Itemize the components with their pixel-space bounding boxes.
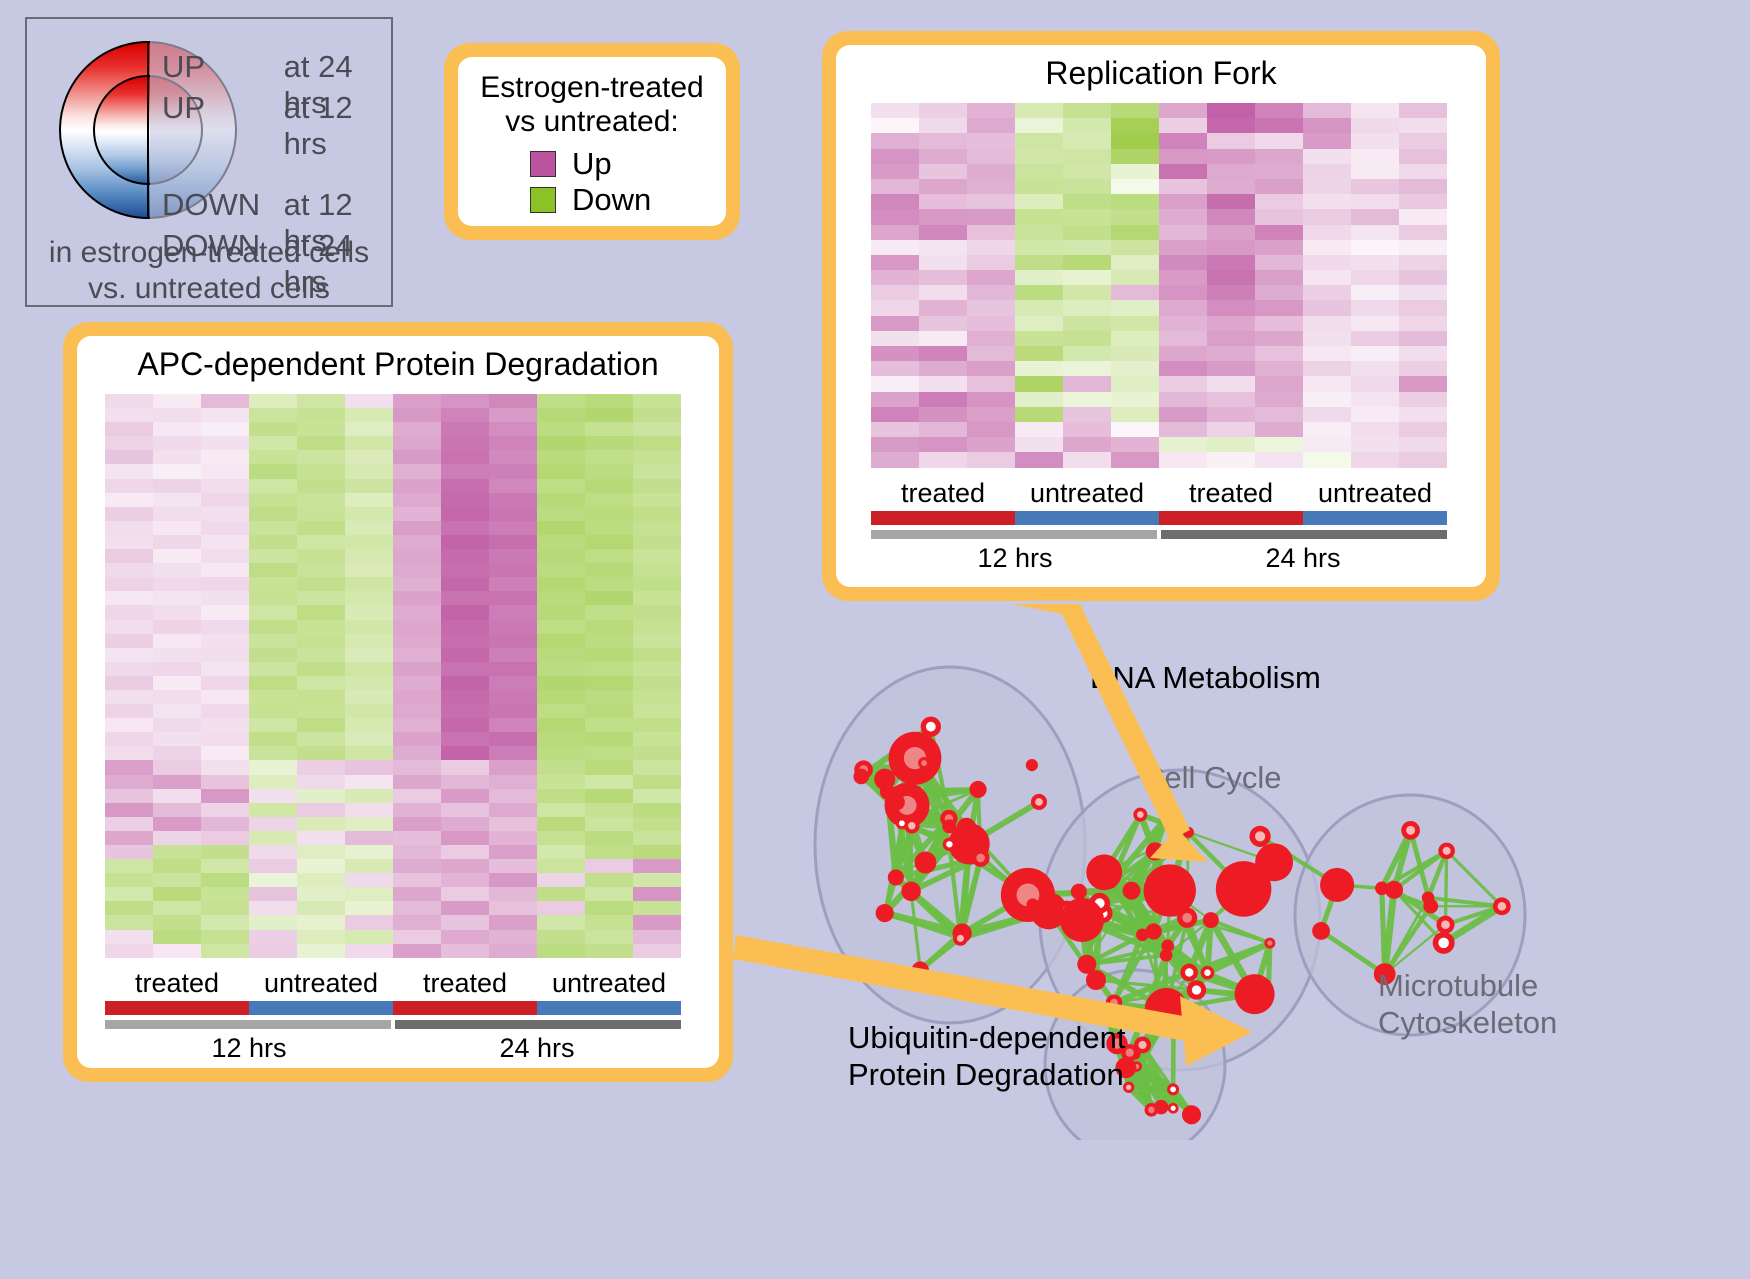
heatmap-cell [1399,149,1447,164]
heatmap-cell [393,789,441,803]
heatmap-cell [1207,255,1255,270]
heatmap-cell [585,873,633,887]
up-swatch-icon [530,151,556,177]
heatmap-cell [153,873,201,887]
heatmap-cell [585,831,633,845]
heatmap-cell [489,408,537,422]
heatmap-cell [441,493,489,507]
heatmap-cell [1303,118,1351,133]
heatmap-cell [919,209,967,224]
heatmap-cell [1159,164,1207,179]
heatmap-cell [297,436,345,450]
heatmap-cell [919,407,967,422]
time-color-bars [105,1020,681,1029]
panel-title: APC-dependent Protein Degradation [77,346,719,383]
heatmap-cell [249,450,297,464]
heatmap-cell [633,577,681,591]
heatmap-cell [585,507,633,521]
heatmap-cell [585,450,633,464]
heatmap-cell [489,422,537,436]
heatmap-cell [1255,346,1303,361]
heatmap-cell [537,662,585,676]
heatmap-cell [585,605,633,619]
node-outer-ring [1160,949,1173,962]
heatmap-cell [537,591,585,605]
heatmap-cell [633,450,681,464]
node-outer-ring [1123,882,1141,900]
heatmap-cell [297,634,345,648]
heatmap-cell [393,563,441,577]
heatmap-cell [537,690,585,704]
heatmap-cell [633,873,681,887]
heatmap-cell [1351,133,1399,148]
heatmap-cell [393,634,441,648]
heatmap-cell [1207,225,1255,240]
heatmap-cell [441,408,489,422]
heatmap-cell [153,817,201,831]
heatmap-cell [1303,179,1351,194]
heatmap-cell [201,620,249,634]
heatmap-cell [1351,361,1399,376]
heatmap-cell [441,479,489,493]
heatmap-cell [967,331,1015,346]
heatmap-cell [1303,133,1351,148]
heatmap-cell [585,422,633,436]
node-inner-dot [1443,847,1451,855]
node-inner-dot [1441,920,1450,929]
network-node [1031,794,1047,810]
heatmap-cell [1303,392,1351,407]
heatmap-cell [489,620,537,634]
heatmap-cell [105,436,153,450]
heatmap-cell [345,634,393,648]
heatmap-cell [249,930,297,944]
heatmap-cell [105,422,153,436]
heatmap-cell [249,789,297,803]
heatmap-cell [537,535,585,549]
heatmap-cell [153,704,201,718]
heatmap-cell [537,859,585,873]
heatmap-cell [297,549,345,563]
heatmap-cell [153,648,201,662]
heatmap-cell [489,450,537,464]
heatmap-cell [249,436,297,450]
heatmap-cell [249,521,297,535]
heatmap-cell [345,577,393,591]
network-edge [1445,851,1446,925]
cluster-label-microtubule: MicrotubuleCytoskeleton [1378,968,1557,1041]
heatmap-cell [441,549,489,563]
apc-degradation-axis: treated untreated treated untreated 12 h [105,968,681,1064]
heatmap-cell [201,662,249,676]
heatmap-cell [919,118,967,133]
heatmap-cell [105,718,153,732]
node-inner-dot [1406,826,1415,835]
heatmap-cell [489,817,537,831]
heatmap-cell [489,746,537,760]
wheel-caption-line1: in estrogen-treated cells [27,235,391,271]
heatmap-cell [1303,361,1351,376]
condition-bar-treated-24 [393,1001,537,1015]
heatmap-cell [633,718,681,732]
heatmap-cell [489,775,537,789]
heatmap-cell [1255,300,1303,315]
node-inner-dot [1170,1087,1176,1093]
heatmap-cell [967,255,1015,270]
heatmap-cell [153,549,201,563]
heatmap-cell [967,240,1015,255]
heatmap-cell [393,901,441,915]
heatmap-cell [871,452,919,467]
heatmap-cell [1351,118,1399,133]
heatmap-cell [1303,103,1351,118]
heatmap-cell [585,789,633,803]
heatmap-cell [585,915,633,929]
heatmap-cell [489,859,537,873]
heatmap-cell [633,507,681,521]
time-labels: 12 hrs 24 hrs [871,543,1447,574]
heatmap-cell [1111,361,1159,376]
heatmap-cell [871,225,919,240]
heatmap-cell [393,676,441,690]
heatmap-cell [201,408,249,422]
heatmap-cell [345,549,393,563]
heatmap-cell [393,760,441,774]
heatmap-cell [393,746,441,760]
heatmap-cell [201,831,249,845]
heatmap-cell [585,620,633,634]
heatmap-cell [441,873,489,887]
network-node [1123,882,1141,900]
heatmap-cell [249,591,297,605]
heatmap-cell [1159,422,1207,437]
condition-label: untreated [1015,478,1159,509]
heatmap-cell [585,436,633,450]
heatmap-cell [871,270,919,285]
heatmap-cell [1111,225,1159,240]
heatmap-cell [1399,407,1447,422]
heatmap-cell [393,817,441,831]
heatmap-cell [1111,422,1159,437]
heatmap-cell [1399,285,1447,300]
heatmap-cell [297,450,345,464]
heatmap-cell [1015,300,1063,315]
heatmap-cell [1015,240,1063,255]
heatmap-cell [1255,452,1303,467]
heatmap-cell [1063,209,1111,224]
condition-labels: treated untreated treated untreated [871,478,1447,509]
heatmap-cell [1159,240,1207,255]
wheel-key: UP [162,49,284,85]
heatmap-cell [633,859,681,873]
heatmap-cell [919,452,967,467]
heatmap-cell [1303,437,1351,452]
heatmap-cell [249,859,297,873]
heatmap-cell [919,285,967,300]
heatmap-cell [201,845,249,859]
heatmap-cell [201,521,249,535]
heatmap-cell [201,422,249,436]
heatmap-cell [489,493,537,507]
heatmap-cell [537,915,585,929]
heatmap-cell [871,376,919,391]
heatmap-cell [297,789,345,803]
heatmap-cell [1063,164,1111,179]
heatmap-cell [585,901,633,915]
heatmap-cell [345,760,393,774]
heatmap-cell [105,563,153,577]
heatmap-cell [297,831,345,845]
heatmap-cell [393,648,441,662]
network-node [1001,868,1055,922]
heatmap-cell [585,803,633,817]
heatmap-cell [297,690,345,704]
heatmap-cell [441,591,489,605]
heatmap-cell [1351,392,1399,407]
network-node [1320,868,1354,902]
heatmap-cell [633,535,681,549]
heatmap-cell [585,577,633,591]
heatmap-cell [105,873,153,887]
heatmap-cell [1303,346,1351,361]
heatmap-cell [345,422,393,436]
network-node [1183,828,1193,838]
heatmap-cell [1351,285,1399,300]
heatmap-cell [105,817,153,831]
heatmap-cell [1255,149,1303,164]
heatmap-cell [967,316,1015,331]
heatmap-cell [633,394,681,408]
node-inner-dot [957,935,964,942]
network-node [889,732,942,785]
heatmap-cell [297,845,345,859]
heatmap-cell [105,704,153,718]
heatmap-cell [297,408,345,422]
heatmap-cell [871,118,919,133]
node-outer-ring [1422,891,1434,903]
heatmap-cell [1255,225,1303,240]
heatmap-cell [441,507,489,521]
heatmap-cell [1063,270,1111,285]
heatmap-cell [201,577,249,591]
network-node [918,757,930,769]
heatmap-cell [153,915,201,929]
heatmap-cell [1351,270,1399,285]
heatmap-cell [1303,255,1351,270]
heatmap-cell [585,662,633,676]
heatmap-cell [585,394,633,408]
heatmap-cell [633,775,681,789]
heatmap-cell [201,704,249,718]
heatmap-cell [1255,376,1303,391]
heatmap-cell [633,732,681,746]
heatmap-cell [201,605,249,619]
node-inner-dot [1035,798,1043,806]
heatmap-cell [1111,255,1159,270]
heatmap-cell [633,746,681,760]
heatmap-cell [489,648,537,662]
heatmap-cell [537,732,585,746]
node-outer-ring [1071,884,1087,900]
heatmap-cell [249,873,297,887]
node-outer-ring [888,869,904,885]
network-node [1163,995,1184,1016]
heatmap-cell [1255,164,1303,179]
heatmap-cell [1207,346,1255,361]
heatmap-cell [537,901,585,915]
heatmap-cell [1159,133,1207,148]
heatmap-cell [1159,285,1207,300]
heatmap-cell [201,817,249,831]
heatmap-cell [153,676,201,690]
network-node [1312,922,1330,940]
network-node [1086,854,1122,890]
heatmap-cell [441,521,489,535]
node-outer-ring [1146,842,1164,860]
heatmap-cell [201,859,249,873]
heatmap-cell [393,690,441,704]
heatmap-cell [871,392,919,407]
heatmap-cell [201,732,249,746]
heatmap-cell [919,255,967,270]
heatmap-cell [105,845,153,859]
heatmap-cell [1351,255,1399,270]
heatmap-cell [249,620,297,634]
time-label: 12 hrs [105,1033,393,1064]
heatmap-cell [633,845,681,859]
legend-item-down-label: Down [572,182,651,218]
heatmap-cell [633,549,681,563]
heatmap-cell [919,103,967,118]
heatmap-cell [201,718,249,732]
heatmap-cell [489,563,537,577]
heatmap-cell [393,775,441,789]
heatmap-cell [537,563,585,577]
heatmap-cell [919,179,967,194]
network-node [1436,916,1454,934]
heatmap-cell [1303,376,1351,391]
heatmap-cell [345,408,393,422]
heatmap-cell [1015,331,1063,346]
heatmap-cell [919,422,967,437]
heatmap-cell [967,225,1015,240]
heatmap-cell [489,591,537,605]
heatmap-cell [297,521,345,535]
heatmap-cell [585,493,633,507]
heatmap-cell [537,873,585,887]
heatmap-cell [489,901,537,915]
heatmap-cell [297,944,345,958]
heatmap-cell [919,164,967,179]
heatmap-cell [537,620,585,634]
heatmap-cell [393,464,441,478]
heatmap-cell [153,944,201,958]
network-node [1146,923,1162,939]
heatmap-cell [249,464,297,478]
heatmap-cell [1111,149,1159,164]
heatmap-cell [297,507,345,521]
node-inner-dot [899,820,905,826]
network-node [874,769,895,790]
heatmap-cell [1303,149,1351,164]
heatmap-cell [633,887,681,901]
wheel-row-down-12: DOWN at 12 hrs [162,187,402,228]
heatmap-cell [297,760,345,774]
heatmap-cell [537,521,585,535]
heatmap-cell [153,718,201,732]
heatmap-cell [1399,422,1447,437]
heatmap-cell [249,563,297,577]
heatmap-cell [1015,133,1063,148]
replication-fork-heatmap [871,103,1447,468]
heatmap-cell [249,704,297,718]
network-node [1187,980,1206,999]
heatmap-cell [1159,452,1207,467]
heatmap-cell [105,690,153,704]
heatmap-cell [441,676,489,690]
heatmap-cell [441,634,489,648]
heatmap-cell [1111,270,1159,285]
heatmap-cell [201,915,249,929]
heatmap-cell [105,591,153,605]
network-node [943,838,956,851]
wheel-row-up-12: UP at 12 hrs [162,90,402,131]
node-outer-ring [1183,828,1193,838]
heatmap-cell [441,845,489,859]
heatmap-cell [1063,331,1111,346]
heatmap-cell [441,422,489,436]
heatmap-cell [1159,209,1207,224]
heatmap-cell [1399,300,1447,315]
heatmap-cell [1255,270,1303,285]
heatmap-cell [1255,240,1303,255]
condition-bar-treated-12 [105,1001,249,1015]
condition-label: untreated [1303,478,1447,509]
heatmap-cell [1111,118,1159,133]
heatmap-cell [1063,361,1111,376]
heatmap-cell [153,803,201,817]
heatmap-cell [537,930,585,944]
node-outer-ring [1216,861,1272,917]
heatmap-cell [105,901,153,915]
heatmap-cell [1111,194,1159,209]
heatmap-cell [1351,407,1399,422]
network-node [1026,898,1038,910]
heatmap-cell [105,634,153,648]
heatmap-cell [345,718,393,732]
heatmap-cell [1351,194,1399,209]
heatmap-cell [297,648,345,662]
heatmap-cell [1399,194,1447,209]
node-inner-dot [1255,831,1265,841]
heatmap-cell [153,789,201,803]
heatmap-cell [1207,179,1255,194]
heatmap-cell [1255,331,1303,346]
node-inner-dot [1148,1107,1155,1114]
heatmap-cell [441,746,489,760]
heatmap-cell [1303,316,1351,331]
heatmap-cell [249,493,297,507]
heatmap-cell [1159,255,1207,270]
heatmap-cell [1255,285,1303,300]
heatmap-cell [201,901,249,915]
heatmap-cell [967,194,1015,209]
heatmap-cell [1255,209,1303,224]
heatmap-cell [1399,209,1447,224]
node-outer-ring [1060,898,1104,942]
heatmap-cell [633,648,681,662]
heatmap-cell [489,789,537,803]
